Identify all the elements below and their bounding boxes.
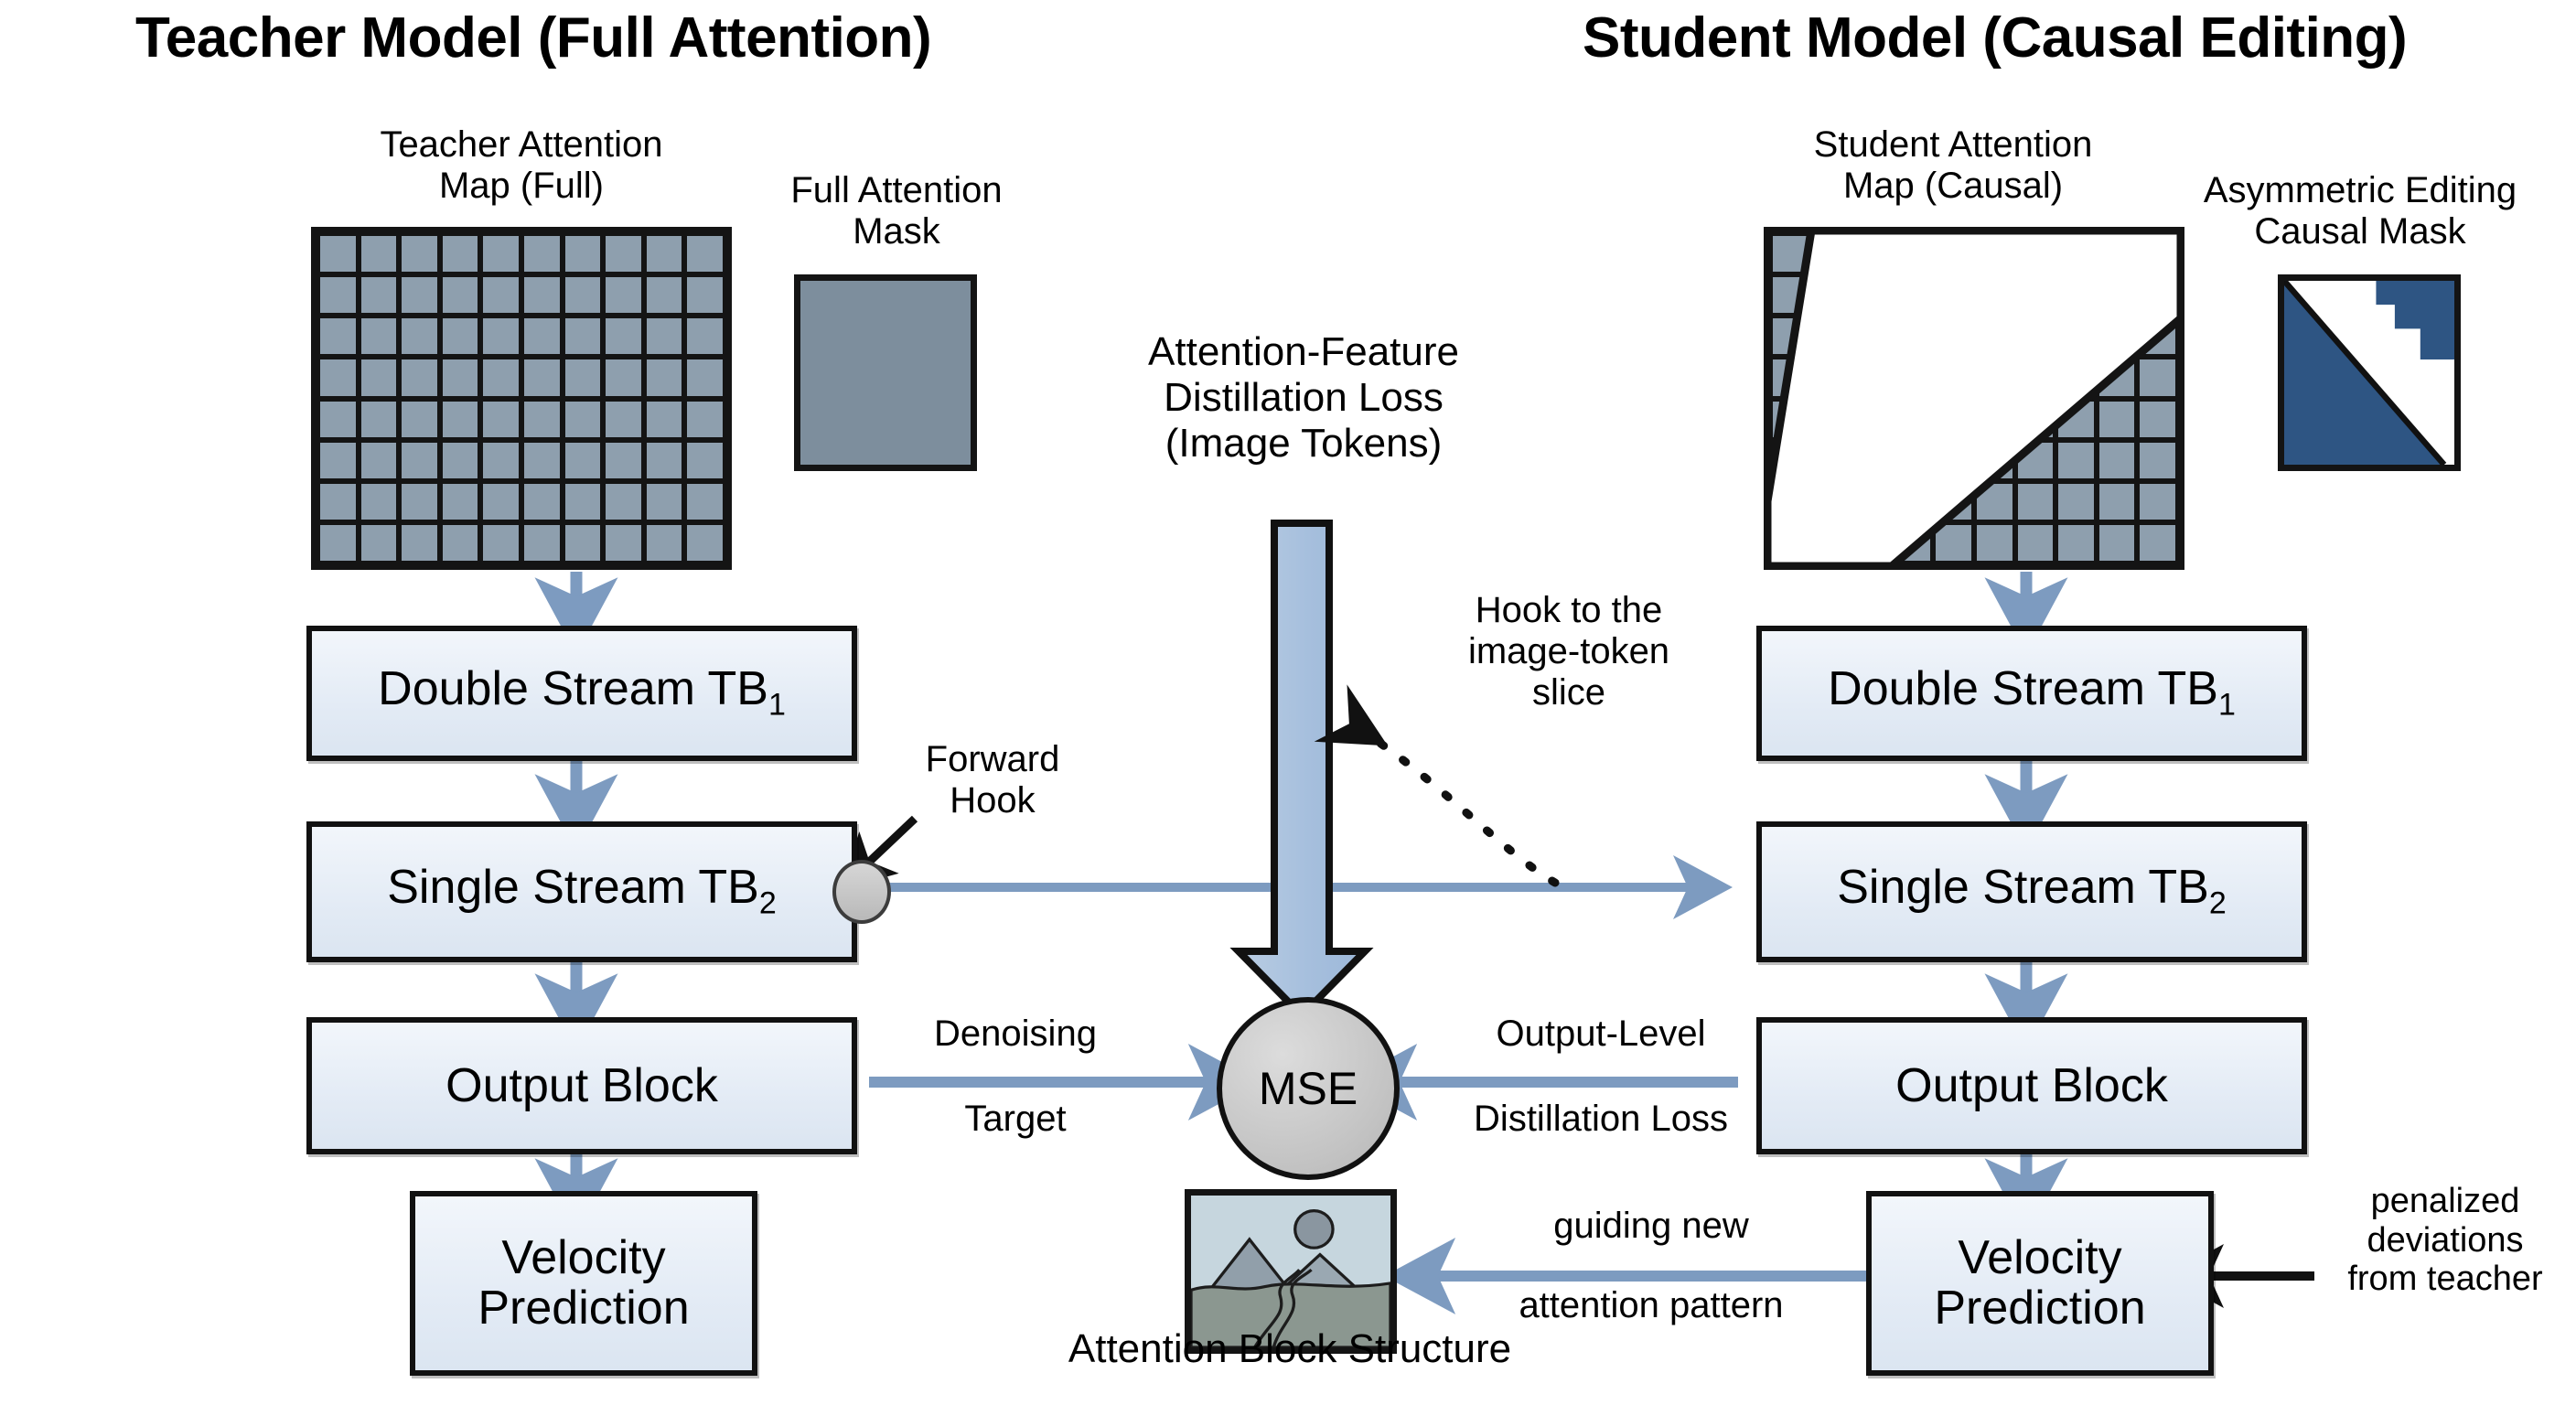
student-map-caption-line1: Student Attention <box>1738 124 2168 166</box>
student-attention-map <box>1764 227 2184 570</box>
teacher-map-caption-line1: Teacher Attention <box>302 124 741 166</box>
student-block1-sub: 1 <box>2218 688 2236 723</box>
full-attention-mask-swatch <box>794 274 977 471</box>
forward-hook-label: Forward Hook <box>878 739 1107 821</box>
guiding-line1: guiding new <box>1454 1206 1848 1247</box>
attention-cell <box>483 443 519 478</box>
hook-dotted-curve <box>1352 725 1555 883</box>
forward-hook-line2: Hook <box>878 780 1107 821</box>
attention-cell <box>443 443 478 478</box>
attention-cell <box>524 359 560 395</box>
attention-cell <box>320 318 356 354</box>
attention-cell <box>524 236 560 272</box>
student-output-block-box[interactable]: Output Block <box>1756 1017 2307 1154</box>
attention-cell <box>443 359 478 395</box>
forward-hook-line1: Forward <box>878 739 1107 780</box>
teacher-block1-sub: 1 <box>768 688 786 723</box>
attention-cell <box>443 484 478 520</box>
attention-cell <box>606 443 641 478</box>
student-block3-label: Output Block <box>1895 1061 2168 1111</box>
denoising-target-label: Denoising Target <box>883 1014 1148 1140</box>
output-loss-line2: Distillation Loss <box>1409 1099 1793 1140</box>
hook-to-image-token-slice-label: Hook to the image-token slice <box>1418 590 1720 713</box>
attention-cell <box>687 402 723 437</box>
attention-cell <box>606 359 641 395</box>
distill-line3: (Image Tokens) <box>1057 421 1551 467</box>
attention-cell <box>443 525 478 561</box>
student-single-stream-tb2-box[interactable]: Single Stream TB2 <box>1756 821 2307 962</box>
attention-cell <box>361 236 397 272</box>
teacher-block3-label: Output Block <box>445 1061 718 1111</box>
attention-cell <box>687 359 723 395</box>
attention-cell <box>687 318 723 354</box>
attention-cell <box>647 402 682 437</box>
forward-hook-dot[interactable] <box>832 860 891 924</box>
attention-cell <box>483 402 519 437</box>
penalized-line1: penalized <box>2313 1182 2576 1221</box>
attention-cell <box>565 277 601 313</box>
attention-cell <box>320 359 356 395</box>
attention-cell <box>565 236 601 272</box>
attention-cell <box>402 236 437 272</box>
teacher-single-stream-tb2-box[interactable]: Single Stream TB2 <box>306 821 857 962</box>
asym-mask-caption-line1: Asymmetric Editing <box>2159 170 2561 211</box>
attention-distillation-loss-label: Attention-Feature Distillation Loss (Ima… <box>1057 329 1551 467</box>
attention-cell <box>361 359 397 395</box>
attention-cell <box>565 318 601 354</box>
attention-cell <box>402 318 437 354</box>
attention-cell <box>647 359 682 395</box>
attention-cell <box>565 402 601 437</box>
teacher-block2-label: Single Stream TB <box>387 861 759 914</box>
attention-cell <box>606 525 641 561</box>
mse-node[interactable]: MSE <box>1217 997 1400 1180</box>
attention-cell <box>647 525 682 561</box>
attention-cell <box>565 443 601 478</box>
attention-cell <box>443 277 478 313</box>
attention-cell <box>647 318 682 354</box>
teacher-map-caption-line2: Map (Full) <box>302 166 741 207</box>
attention-cell <box>443 236 478 272</box>
attention-cell <box>647 236 682 272</box>
forward-hook-pointer <box>864 819 915 867</box>
attention-cell <box>361 402 397 437</box>
attention-cell <box>402 443 437 478</box>
penalized-line3: from teacher <box>2313 1260 2576 1299</box>
attention-cell <box>320 525 356 561</box>
attention-cell <box>361 277 397 313</box>
attention-cell <box>524 525 560 561</box>
attention-cell <box>606 402 641 437</box>
attention-cell <box>483 318 519 354</box>
denoising-line1: Denoising <box>883 1014 1148 1055</box>
attention-cell <box>443 402 478 437</box>
full-mask-caption-line2: Mask <box>723 211 1070 252</box>
full-mask-caption-line1: Full Attention <box>723 170 1070 211</box>
attention-cell <box>483 525 519 561</box>
hook-line3: slice <box>1418 672 1720 713</box>
attention-cell <box>647 484 682 520</box>
mse-label: MSE <box>1259 1062 1358 1115</box>
teacher-block4-line1: Velocity <box>501 1233 665 1283</box>
attention-cell <box>606 236 641 272</box>
causal-band-overlay <box>1764 227 2184 570</box>
student-block2-sub: 2 <box>2209 886 2227 921</box>
student-block1-label: Double Stream TB <box>1828 662 2218 715</box>
attention-cell <box>320 402 356 437</box>
student-double-stream-tb1-box[interactable]: Double Stream TB1 <box>1756 626 2307 761</box>
diagram-canvas: Teacher Model (Full Attention) Student M… <box>0 0 2576 1405</box>
attention-cell <box>320 443 356 478</box>
attention-cell <box>606 484 641 520</box>
student-block4-line2: Prediction <box>1934 1283 2145 1334</box>
student-model-title: Student Model (Causal Editing) <box>1583 5 2407 70</box>
attention-cell <box>565 484 601 520</box>
attention-block-structure-label: Attention Block Structure <box>970 1326 1610 1371</box>
attention-cell <box>361 318 397 354</box>
teacher-map-caption: Teacher Attention Map (Full) <box>302 124 741 207</box>
attention-cell <box>361 525 397 561</box>
teacher-model-title: Teacher Model (Full Attention) <box>135 5 931 70</box>
attention-cell <box>402 277 437 313</box>
attention-cell <box>483 359 519 395</box>
hook-line1: Hook to the <box>1418 590 1720 631</box>
asymmetric-mask-caption: Asymmetric Editing Causal Mask <box>2159 170 2561 252</box>
attention-cell <box>402 402 437 437</box>
attention-cell <box>320 277 356 313</box>
attention-cell <box>402 525 437 561</box>
attention-cell <box>565 525 601 561</box>
attention-cell <box>524 443 560 478</box>
student-velocity-prediction-box[interactable]: Velocity Prediction <box>1866 1191 2214 1376</box>
attention-cell <box>687 525 723 561</box>
attention-cell <box>361 443 397 478</box>
attention-cell <box>647 277 682 313</box>
teacher-attention-map <box>311 227 732 570</box>
attention-cell <box>687 277 723 313</box>
student-map-caption: Student Attention Map (Causal) <box>1738 124 2168 207</box>
attention-cell <box>687 443 723 478</box>
guiding-attention-pattern-label: guiding new attention pattern <box>1454 1206 1848 1326</box>
attention-cell <box>524 318 560 354</box>
attention-distillation-arrow <box>1239 523 1365 1015</box>
attention-cell <box>524 402 560 437</box>
student-map-caption-line2: Map (Causal) <box>1738 166 2168 207</box>
output-loss-line1: Output-Level <box>1409 1014 1793 1055</box>
attention-cell <box>606 318 641 354</box>
hook-line2: image-token <box>1418 631 1720 672</box>
attention-cell <box>361 484 397 520</box>
output-level-distillation-label: Output-Level Distillation Loss <box>1409 1014 1793 1140</box>
teacher-block4-line2: Prediction <box>478 1283 689 1334</box>
attention-cell <box>320 236 356 272</box>
penalized-deviations-label: penalized deviations from teacher <box>2313 1182 2576 1299</box>
attention-cell <box>443 318 478 354</box>
distill-line2: Distillation Loss <box>1057 375 1551 421</box>
attention-cell <box>565 359 601 395</box>
asymmetric-causal-mask-swatch <box>2278 274 2461 471</box>
attention-cell <box>402 359 437 395</box>
guiding-line2: attention pattern <box>1454 1285 1848 1326</box>
attention-cell <box>606 277 641 313</box>
attention-cell <box>524 277 560 313</box>
attention-cell <box>483 277 519 313</box>
teacher-block2-sub: 2 <box>759 886 777 921</box>
full-attention-mask-caption: Full Attention Mask <box>723 170 1070 252</box>
attention-cell <box>687 236 723 272</box>
attention-cell <box>320 484 356 520</box>
attention-cell <box>687 484 723 520</box>
distill-line1: Attention-Feature <box>1057 329 1551 375</box>
teacher-double-stream-tb1-box[interactable]: Double Stream TB1 <box>306 626 857 761</box>
teacher-output-block-box[interactable]: Output Block <box>306 1017 857 1154</box>
denoising-line2: Target <box>883 1099 1148 1140</box>
penalized-line2: deviations <box>2313 1221 2576 1260</box>
attention-cell <box>402 484 437 520</box>
asym-mask-caption-line2: Causal Mask <box>2159 211 2561 252</box>
attention-cell <box>483 236 519 272</box>
student-block2-label: Single Stream TB <box>1837 861 2209 914</box>
student-block4-line1: Velocity <box>1958 1233 2121 1283</box>
attention-cell <box>524 484 560 520</box>
attention-cell <box>647 443 682 478</box>
teacher-velocity-prediction-box[interactable]: Velocity Prediction <box>410 1191 757 1376</box>
attention-cell <box>483 484 519 520</box>
teacher-block1-label: Double Stream TB <box>378 662 768 715</box>
